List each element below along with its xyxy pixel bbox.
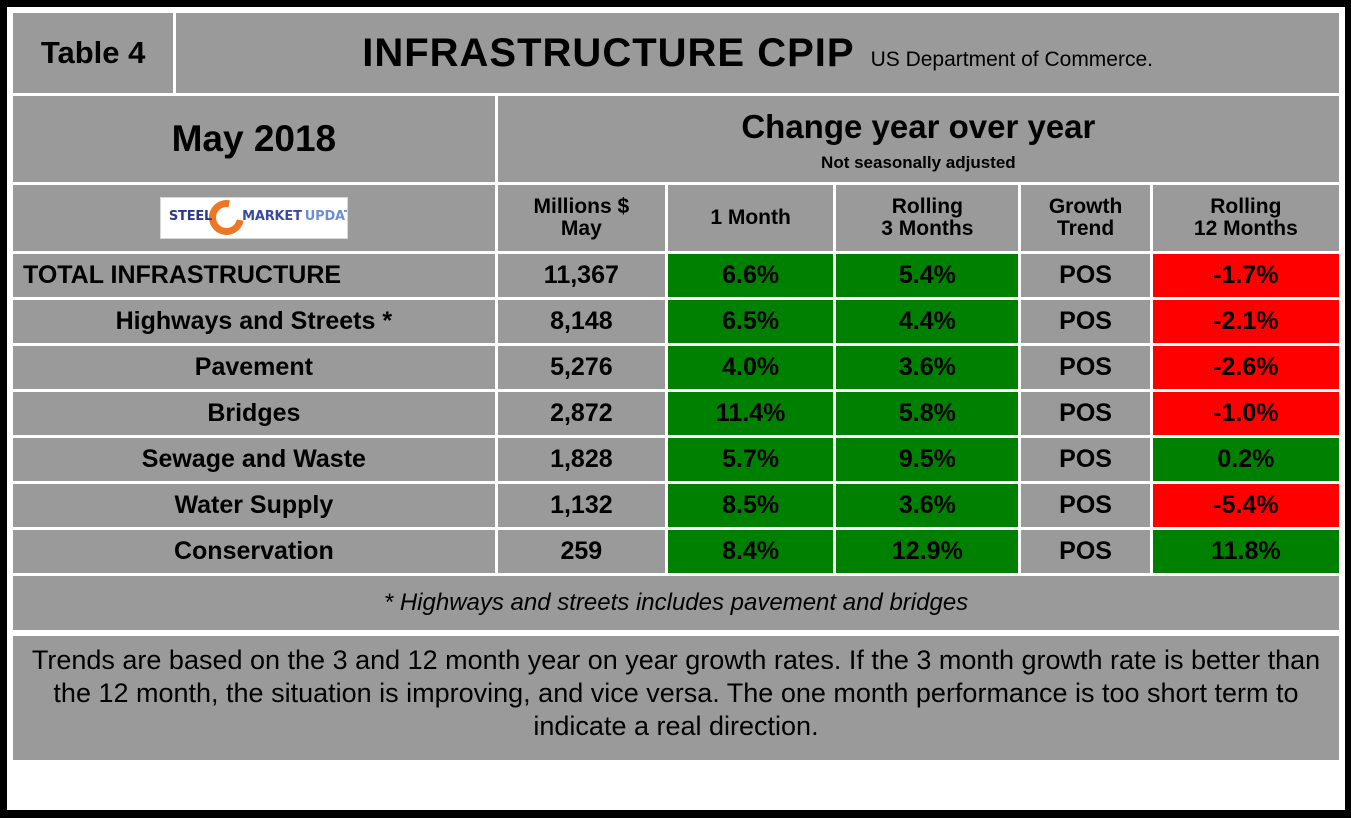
- footnote-text: * Highways and streets includes pavement…: [13, 576, 1339, 630]
- row-label: TOTAL INFRASTRUCTURE: [13, 254, 495, 297]
- cell-millions: 2,872: [498, 392, 665, 435]
- row-label: Water Supply: [13, 484, 495, 527]
- row-label: Highways and Streets *: [13, 300, 495, 343]
- cell-rolling-12-months: -2.1%: [1153, 300, 1339, 343]
- table-row: Bridges2,87211.4%5.8%POS-1.0%: [13, 392, 1339, 435]
- col-rolling12-line1: Rolling: [1153, 196, 1339, 218]
- table-row: Conservation2598.4%12.9%POS11.8%: [13, 530, 1339, 573]
- table-row: TOTAL INFRASTRUCTURE11,3676.6%5.4%POS-1.…: [13, 254, 1339, 297]
- row-label: Bridges: [13, 392, 495, 435]
- cell-rolling-12-months: 11.8%: [1153, 530, 1339, 573]
- col-rolling3-line1: Rolling: [836, 196, 1018, 218]
- cell-millions: 1,828: [498, 438, 665, 481]
- col-millions-line1: Millions $: [498, 196, 665, 218]
- cell-one-month: 6.5%: [668, 300, 833, 343]
- row-label: Pavement: [13, 346, 495, 389]
- column-header-millions: Millions $ May: [498, 185, 665, 251]
- cell-one-month: 6.6%: [668, 254, 833, 297]
- cell-rolling-3-months: 5.4%: [836, 254, 1018, 297]
- page-title: INFRASTRUCTURE CPIP: [362, 31, 854, 75]
- brand-logo-cell: STEELMARKETUPDATE: [13, 185, 495, 251]
- title-source: US Department of Commerce.: [871, 48, 1153, 71]
- column-header-growth-trend: Growth Trend: [1021, 185, 1149, 251]
- infrastructure-cpip-table: Table 4 INFRASTRUCTURE CPIPUS Department…: [10, 10, 1342, 633]
- cell-rolling-3-months: 3.6%: [836, 484, 1018, 527]
- cell-one-month: 8.4%: [668, 530, 833, 573]
- logo-text: STEELMARKETUPDATE: [169, 210, 348, 224]
- cell-rolling-12-months: -5.4%: [1153, 484, 1339, 527]
- cell-rolling-12-months: -2.6%: [1153, 346, 1339, 389]
- table-inner: Table 4 INFRASTRUCTURE CPIPUS Department…: [7, 7, 1345, 810]
- cell-growth-trend: POS: [1021, 392, 1149, 435]
- cell-rolling-3-months: 3.6%: [836, 346, 1018, 389]
- cell-growth-trend: POS: [1021, 346, 1149, 389]
- cell-millions: 1,132: [498, 484, 665, 527]
- col-growth-line1: Growth: [1021, 196, 1149, 218]
- col-rolling3-line2: 3 Months: [836, 218, 1018, 240]
- table-number-label: Table 4: [13, 13, 173, 93]
- cell-rolling-12-months: 0.2%: [1153, 438, 1339, 481]
- footnote-row: * Highways and streets includes pavement…: [13, 576, 1339, 630]
- narrative-text: Trends are based on the 3 and 12 month y…: [13, 636, 1339, 760]
- cell-growth-trend: POS: [1021, 484, 1149, 527]
- cell-millions: 5,276: [498, 346, 665, 389]
- cell-one-month: 8.5%: [668, 484, 833, 527]
- column-header-row: STEELMARKETUPDATE Millions $ May 1 Month…: [13, 185, 1339, 251]
- row-label: Sewage and Waste: [13, 438, 495, 481]
- cell-one-month: 5.7%: [668, 438, 833, 481]
- row-label: Conservation: [13, 530, 495, 573]
- table-row: Highways and Streets *8,1486.5%4.4%POS-2…: [13, 300, 1339, 343]
- cell-rolling-3-months: 4.4%: [836, 300, 1018, 343]
- cell-millions: 8,148: [498, 300, 665, 343]
- cell-rolling-3-months: 9.5%: [836, 438, 1018, 481]
- cell-growth-trend: POS: [1021, 438, 1149, 481]
- table-frame: Table 4 INFRASTRUCTURE CPIPUS Department…: [0, 0, 1351, 818]
- cell-growth-trend: POS: [1021, 300, 1149, 343]
- title-cell: INFRASTRUCTURE CPIPUS Department of Comm…: [176, 13, 1339, 93]
- logo-word-market: MARKET: [242, 209, 302, 224]
- col-millions-line2: May: [498, 218, 665, 240]
- period-label: May 2018: [13, 96, 495, 182]
- period-row: May 2018 Change year over year Not seaso…: [13, 96, 1339, 182]
- change-subheading: Not seasonally adjusted: [498, 154, 1339, 172]
- cell-rolling-3-months: 5.8%: [836, 392, 1018, 435]
- title-row: Table 4 INFRASTRUCTURE CPIPUS Department…: [13, 13, 1339, 93]
- cell-rolling-12-months: -1.7%: [1153, 254, 1339, 297]
- logo-word-update: UPDATE: [305, 209, 348, 224]
- logo-word-steel: STEEL: [169, 209, 212, 224]
- col-rolling12-line2: 12 Months: [1153, 218, 1339, 240]
- cell-one-month: 11.4%: [668, 392, 833, 435]
- col-growth-line2: Trend: [1021, 218, 1149, 240]
- change-heading-cell: Change year over year Not seasonally adj…: [498, 96, 1339, 182]
- cell-millions: 259: [498, 530, 665, 573]
- column-header-rolling-12: Rolling 12 Months: [1153, 185, 1339, 251]
- table-row: Sewage and Waste1,8285.7%9.5%POS0.2%: [13, 438, 1339, 481]
- change-heading: Change year over year: [498, 110, 1339, 145]
- cell-growth-trend: POS: [1021, 530, 1149, 573]
- steel-market-update-logo: STEELMARKETUPDATE: [160, 197, 348, 239]
- column-header-one-month: 1 Month: [668, 185, 833, 251]
- cell-rolling-12-months: -1.0%: [1153, 392, 1339, 435]
- table-row: Pavement5,2764.0%3.6%POS-2.6%: [13, 346, 1339, 389]
- cell-millions: 11,367: [498, 254, 665, 297]
- cell-one-month: 4.0%: [668, 346, 833, 389]
- cell-growth-trend: POS: [1021, 254, 1149, 297]
- table-row: Water Supply1,1328.5%3.6%POS-5.4%: [13, 484, 1339, 527]
- cell-rolling-3-months: 12.9%: [836, 530, 1018, 573]
- col-one-month-line1: 1 Month: [668, 207, 833, 229]
- column-header-rolling-3: Rolling 3 Months: [836, 185, 1018, 251]
